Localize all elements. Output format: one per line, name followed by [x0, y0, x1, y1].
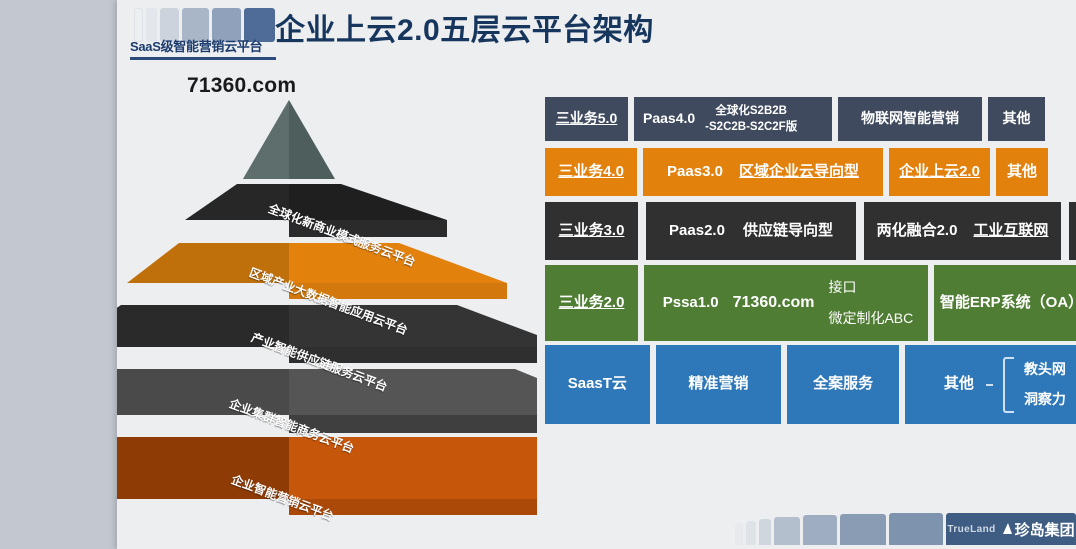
layer-4-cell-1-label: 三业务4.0 [558, 163, 624, 182]
layer-3-cell-2[interactable]: Paas2.0 供应链导向型 [646, 202, 856, 260]
layer-3-cell-2-sub: 供应链导向型 [743, 222, 833, 241]
layer-1-row: SaasT云 精准营销 全案服务 其他 教头网 珍岛网络 洞察力 外销宝 [545, 345, 1076, 424]
brace-dash-icon [986, 384, 993, 386]
layer-5-cell-1[interactable]: 三业务5.0 [545, 97, 628, 141]
layer-5-cell-2-sub1: 全球化S2B2B [705, 104, 797, 118]
layer-5-cell-1-label: 三业务5.0 [556, 110, 617, 128]
brand-grid: 教头网 珍岛网络 洞察力 外销宝 [1024, 361, 1076, 408]
layer-4-cell-3-label: 企业上云2.0 [899, 163, 980, 182]
layer-1-cell-2-label: 精准营销 [688, 375, 748, 394]
layer-4-cell-4-label: 其他 [1007, 163, 1037, 182]
layer-2-cell-2-label: Pssa1.0 [663, 294, 719, 313]
logo-bars-icon [130, 8, 276, 42]
layer-4-cell-1[interactable]: 三业务4.0 [545, 148, 637, 196]
layer-1-cell-1-label: SaasT云 [568, 375, 627, 394]
layer-5-cell-3[interactable]: 物联网智能营销 [838, 97, 982, 141]
brand-item-1[interactable]: 教头网 [1024, 361, 1066, 379]
layer-3-cell-3-label: 两化融合2.0 [877, 222, 958, 241]
layer-5-row: 三业务5.0 Paas4.0 全球化S2B2B -S2C2B-S2C2F版 物联… [545, 97, 1076, 141]
layer-4-cell-2-label: Paas3.0 [667, 163, 723, 182]
layer-1-cell-4-label: 其他 [944, 375, 974, 394]
sailboat-icon [999, 523, 1012, 536]
slide-canvas: SaaS级智能营销云平台 企业上云2.0五层云平台架构 71360.com [117, 0, 1076, 549]
layer-3-cell-3-sub: 工业互联网 [973, 222, 1048, 241]
layer-2-cell-1[interactable]: 三业务2.0 [545, 265, 638, 341]
layer-1-cell-4[interactable]: 其他 教头网 珍岛网络 洞察力 外销宝 [905, 345, 1076, 424]
layer-2-cell-2-sub2: 微定制化ABC [828, 310, 913, 328]
layer-1-cell-3[interactable]: 全案服务 [787, 345, 899, 424]
layer-5-cell-4-label: 其他 [1003, 110, 1031, 128]
layer-2-cell-1-label: 三业务2.0 [559, 294, 625, 313]
page-title: 企业上云2.0五层云平台架构 [275, 8, 654, 54]
brand-item-3[interactable]: 洞察力 [1024, 391, 1066, 409]
footer-bars-decoration: TrueLand 珍岛集团 [735, 513, 1076, 545]
layer-1-cell-3-label: 全案服务 [813, 375, 873, 394]
layer-5-cell-2-label: Paas4.0 [643, 110, 695, 128]
logo-underline [130, 57, 276, 60]
layer-3-cell-1[interactable]: 三业务3.0 [545, 202, 638, 260]
slide-footer: TrueLand 珍岛集团 [117, 509, 1076, 549]
layer-3-cell-4[interactable]: 其他 [1069, 202, 1076, 260]
layer-3-cell-1-label: 三业务3.0 [559, 222, 625, 241]
trueland-logo-cn: 珍岛集团 [1015, 519, 1075, 540]
layer-2-cell-3[interactable]: 智能ERP系统（OA） [934, 265, 1076, 341]
layer-5-cell-2-sub2: -S2C2B-S2C2F版 [705, 120, 797, 134]
saas-logo-badge: SaaS级智能营销云平台 [130, 8, 276, 60]
brace-icon [1003, 357, 1014, 413]
layer-4-cell-2-sub: 区域企业云导向型 [739, 163, 859, 182]
layer-4-cell-2[interactable]: Paas3.0 区域企业云导向型 [643, 148, 883, 196]
layer-2-cell-2-url: 71360.com [733, 293, 815, 313]
layer-3-row: 三业务3.0 Paas2.0 供应链导向型 两化融合2.0 工业互联网 其他 [545, 202, 1076, 260]
trueland-logo-en: TrueLand [947, 524, 995, 535]
pyramid-tier-3-right [289, 305, 537, 347]
layer-1-cell-1[interactable]: SaasT云 [545, 345, 650, 424]
slide-header: SaaS级智能营销云平台 企业上云2.0五层云平台架构 71360.com [117, 0, 1076, 80]
pyramid-tier-4-right [289, 369, 537, 415]
layer-5-cell-4[interactable]: 其他 [988, 97, 1045, 141]
layer-2-cell-2[interactable]: Pssa1.0 71360.com 接口 微定制化ABC [644, 265, 928, 341]
brand-brace-group: 教头网 珍岛网络 洞察力 外销宝 [986, 357, 1076, 413]
pyramid-diagram: 全球化新商业模式服务云平台 区域产业大数据智能应用云平台 产业智能供应链服务云平… [117, 85, 537, 515]
layer-2-row: 三业务2.0 Pssa1.0 71360.com 接口 微定制化ABC 智能ER… [545, 265, 1076, 341]
layer-5-cell-3-label: 物联网智能营销 [861, 110, 959, 128]
layer-2-cell-2-sub1: 接口 [828, 279, 913, 297]
layer-3-cell-2-label: Paas2.0 [669, 222, 725, 241]
layer-2-cell-3-label: 智能ERP系统（OA） [940, 294, 1076, 313]
layer-3-cell-3[interactable]: 两化融合2.0 工业互联网 [864, 202, 1061, 260]
layer-1-cell-2[interactable]: 精准营销 [656, 345, 782, 424]
layer-4-row: 三业务4.0 Paas3.0 区域企业云导向型 企业上云2.0 其他 [545, 148, 1076, 196]
logo-tagline: SaaS级智能营销云平台 [130, 38, 276, 56]
layer-4-cell-3[interactable]: 企业上云2.0 [889, 148, 990, 196]
layer-4-cell-4[interactable]: 其他 [996, 148, 1048, 196]
trueland-logo: TrueLand 珍岛集团 [946, 513, 1076, 545]
pyramid-apex-shade [243, 100, 289, 179]
layer-2-cell-2-substack: 接口 微定制化ABC [828, 279, 913, 327]
layer-5-cell-2[interactable]: Paas4.0 全球化S2B2B -S2C2B-S2C2F版 [634, 97, 832, 141]
